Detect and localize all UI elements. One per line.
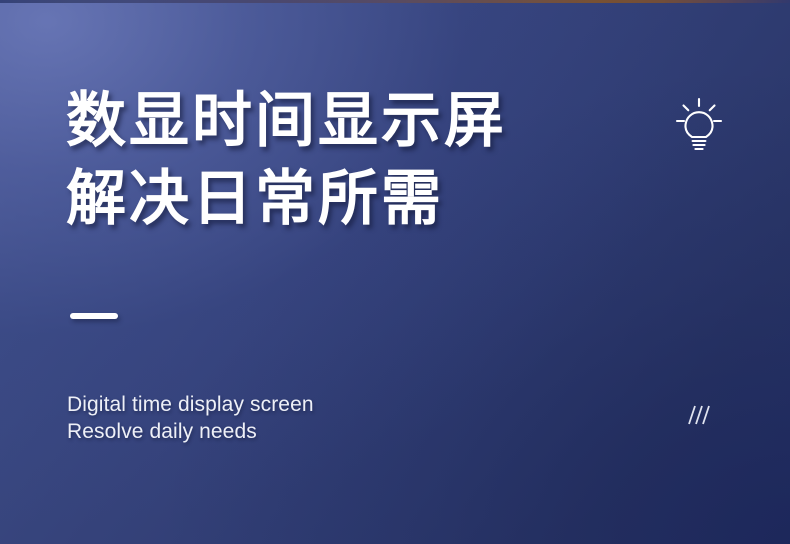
top-edge-accent-line xyxy=(0,0,790,3)
lightbulb-icon xyxy=(670,96,728,156)
headline-line-2: 解决日常所需 xyxy=(66,160,626,238)
page-title: 数显时间显示屏 解决日常所需 xyxy=(66,82,626,238)
subtitle-line-2: Resolve daily needs xyxy=(67,418,314,445)
page-subtitle: Digital time display screen Resolve dail… xyxy=(67,391,314,445)
promo-banner: 数显时间显示屏 解决日常所需 Digital time display scre… xyxy=(0,0,790,544)
triple-slash-icon xyxy=(682,402,716,428)
subtitle-line-1: Digital time display screen xyxy=(67,391,314,418)
headline-line-1: 数显时间显示屏 xyxy=(66,82,626,160)
dash-divider xyxy=(70,313,118,319)
